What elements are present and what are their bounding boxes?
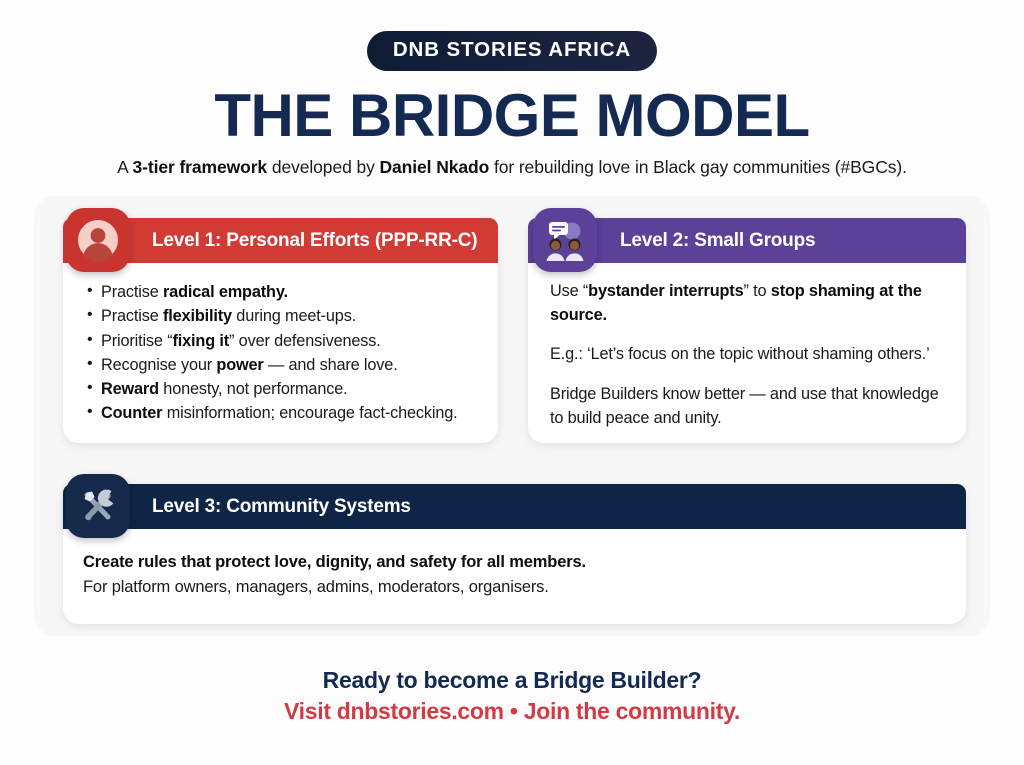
- list-item: Prioritise “fixing it” over defensivenes…: [85, 329, 484, 353]
- bullet-post: during meet-ups.: [232, 307, 356, 325]
- level-3-title: Level 3: Community Systems: [152, 496, 411, 518]
- two-people-speech-bubbles-icon: [533, 208, 597, 272]
- level-3-header: Level 3: Community Systems: [63, 484, 966, 529]
- level-2-paragraph-1: Use “bystander interrupts” to stop shami…: [550, 280, 944, 327]
- bullet-post: ” over defensiveness.: [229, 332, 381, 350]
- bullet-bold: Reward: [101, 380, 159, 398]
- level-3-line-2: For platform owners, managers, admins, m…: [83, 575, 946, 600]
- level-3-body: Create rules that protect love, dignity,…: [83, 550, 946, 600]
- levels-container: Level 1: Personal Efforts (PPP-RR-C) Pra…: [0, 0, 1024, 765]
- bullet-bold: radical empathy.: [163, 283, 288, 301]
- bullet-bold: fixing it: [172, 332, 229, 350]
- list-item: Counter misinformation; encourage fact-c…: [85, 401, 484, 425]
- p1-mid: ” to: [743, 282, 770, 300]
- bullet-bold: flexibility: [163, 307, 232, 325]
- footer-question: Ready to become a Bridge Builder?: [0, 666, 1024, 695]
- footer-cta[interactable]: Visit dnbstories.com • Join the communit…: [0, 697, 1024, 726]
- footer: Ready to become a Bridge Builder? Visit …: [0, 666, 1024, 726]
- level-2-body: Use “bystander interrupts” to stop shami…: [550, 280, 944, 430]
- level-3-line-1: Create rules that protect love, dignity,…: [83, 550, 946, 575]
- level-2-paragraph-2: E.g.: ‘Let’s focus on the topic without …: [550, 343, 944, 367]
- list-item: Recognise your power — and share love.: [85, 353, 484, 377]
- wrench-screwdriver-tools-icon: [66, 474, 130, 538]
- p1-bold-1: bystander interrupts: [588, 282, 743, 300]
- bullet-post: — and share love.: [264, 356, 398, 374]
- bullet-bold: power: [216, 356, 263, 374]
- level-2-paragraph-3: Bridge Builders know better — and use th…: [550, 383, 944, 430]
- list-item: Practise flexibility during meet-ups.: [85, 304, 484, 328]
- person-avatar-icon: [66, 208, 130, 272]
- level-1-bullet-list: Practise radical empathy. Practise flexi…: [85, 280, 484, 426]
- list-item: Reward honesty, not performance.: [85, 377, 484, 401]
- p1-pre: Use “: [550, 282, 588, 300]
- level-2-title: Level 2: Small Groups: [620, 230, 815, 252]
- p2-text: E.g.: ‘Let’s focus on the topic without …: [550, 345, 930, 363]
- level-3-card: Level 3: Community Systems Create rules …: [63, 484, 966, 624]
- list-item: Practise radical empathy.: [85, 280, 484, 304]
- bullet-bold: Counter: [101, 404, 162, 422]
- bullet-post: honesty, not performance.: [159, 380, 348, 398]
- bullet-post: misinformation; encourage fact-checking.: [162, 404, 457, 422]
- bullet-pre: Practise: [101, 283, 163, 301]
- level-1-title: Level 1: Personal Efforts (PPP-RR-C): [152, 230, 477, 252]
- infographic-poster: DNB STORIES AFRICA THE BRIDGE MODEL A 3-…: [0, 0, 1024, 765]
- bullet-pre: Recognise your: [101, 356, 216, 374]
- bullet-pre: Prioritise “: [101, 332, 172, 350]
- bullet-pre: Practise: [101, 307, 163, 325]
- p3-text: Bridge Builders know better — and use th…: [550, 385, 939, 427]
